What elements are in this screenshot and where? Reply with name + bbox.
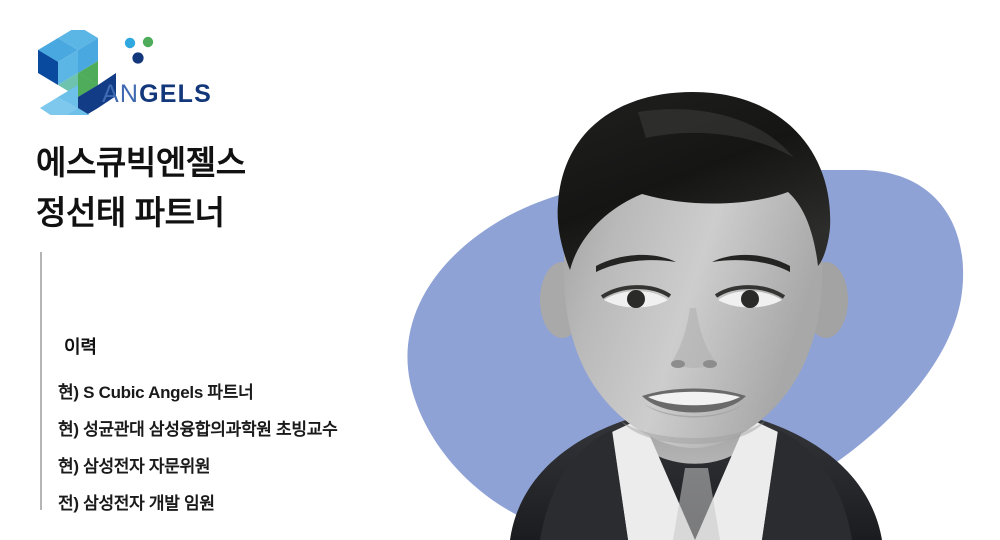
section-divider-rule <box>40 252 42 510</box>
profile-slide: ANGELS 에스큐빅엔젤스 정선태 파트너 이력 현) S Cubic Ang… <box>0 0 1000 540</box>
brand-accent-dots-icon <box>122 35 160 71</box>
dot-light-blue-icon <box>125 38 135 48</box>
brand-logo: ANGELS <box>38 30 258 120</box>
profile-visual <box>390 0 1000 540</box>
eye-right <box>741 290 759 308</box>
brand-wordmark-light: AN <box>102 80 139 108</box>
eye-left <box>627 290 645 308</box>
brand-wordmark: ANGELS <box>102 80 212 109</box>
dot-navy-icon <box>132 52 143 63</box>
jung-seontae-portrait <box>390 0 1000 540</box>
brand-wordmark-bold: GELS <box>139 80 212 108</box>
dot-green-icon <box>143 37 153 47</box>
